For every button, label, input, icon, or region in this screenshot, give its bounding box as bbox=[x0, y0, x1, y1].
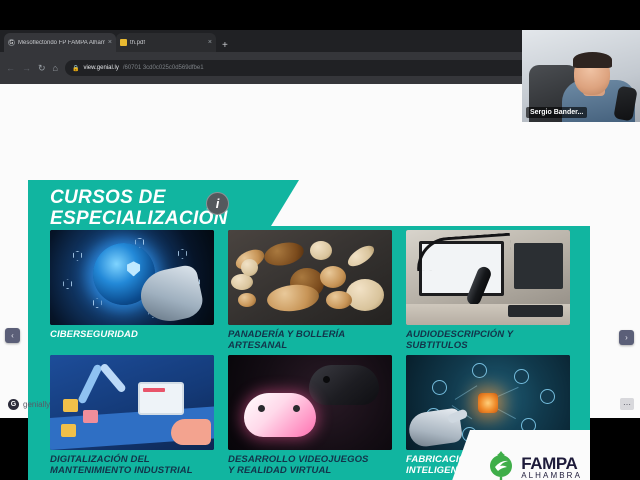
genially-favicon-icon: G bbox=[8, 39, 15, 46]
course-thumbnail[interactable] bbox=[50, 230, 214, 325]
industry-image bbox=[50, 355, 214, 450]
title-line-1: CURSOS DE bbox=[50, 188, 228, 209]
genially-watermark[interactable]: G genially bbox=[8, 399, 50, 410]
tab-title: Mesoflectondo FP FAMPA Alham bbox=[18, 40, 105, 46]
pomegranate-logo-icon bbox=[486, 448, 516, 480]
course-card-ciberseguridad[interactable]: CIBERSEGURIDAD bbox=[50, 230, 214, 351]
next-slide-button[interactable]: › bbox=[619, 330, 634, 345]
new-tab-button[interactable]: + bbox=[216, 40, 234, 52]
back-icon[interactable]: ← bbox=[6, 64, 15, 73]
tab-title: th.pdf bbox=[130, 40, 205, 46]
genially-logo-icon: G bbox=[8, 399, 19, 410]
forward-icon[interactable]: → bbox=[22, 64, 31, 73]
course-label: DESARROLLO VIDEOJUEGOS Y REALIDAD VIRTUA… bbox=[228, 455, 392, 476]
genially-slide: CURSOS DE ESPECIALIZACIÓN i bbox=[28, 180, 590, 480]
lock-icon: 🔒 bbox=[72, 65, 79, 72]
fampa-subtitle: ALHAMBRA bbox=[521, 472, 582, 480]
webcam-overlay[interactable]: Sergio Bander... bbox=[522, 30, 640, 122]
tab-genially[interactable]: G Mesoflectondo FP FAMPA Alham × bbox=[4, 33, 116, 52]
course-label: CIBERSEGURIDAD bbox=[50, 330, 214, 341]
fampa-wordmark: FAMPA ALHAMBRA bbox=[521, 455, 582, 480]
participant-name-label: Sergio Bander... bbox=[526, 107, 587, 118]
prev-slide-button[interactable]: ‹ bbox=[5, 328, 20, 343]
course-card-audiodescripcion[interactable]: AUDIODESCRIPCIÓN Y SUBTITULOS bbox=[406, 230, 570, 351]
course-thumbnail[interactable] bbox=[50, 355, 214, 450]
pdf-favicon-icon bbox=[120, 39, 127, 46]
course-card-videojuegos[interactable]: DESARROLLO VIDEOJUEGOS Y REALIDAD VIRTUA… bbox=[228, 355, 392, 476]
microphone-image bbox=[406, 230, 570, 325]
course-label: AUDIODESCRIPCIÓN Y SUBTITULOS bbox=[406, 330, 570, 351]
course-card-digitalizacion[interactable]: DIGITALIZACIÓN DEL MANTENIMIENTO INDUSTR… bbox=[50, 355, 214, 476]
person-hair bbox=[573, 52, 612, 68]
close-icon[interactable]: × bbox=[208, 39, 212, 46]
title-line-2: ESPECIALIZACIÓN bbox=[50, 209, 228, 230]
page-canvas: CURSOS DE ESPECIALIZACIÓN i bbox=[0, 84, 640, 418]
url-path: /60701 3cd0c025c0d569dfbe1 bbox=[123, 65, 204, 71]
screen-root: G Mesoflectondo FP FAMPA Alham × th.pdf … bbox=[0, 0, 640, 480]
home-icon[interactable]: ⌂ bbox=[53, 64, 58, 73]
bakery-image bbox=[228, 230, 392, 325]
viewer-menu-button[interactable]: ⋯ bbox=[620, 398, 634, 410]
reload-icon[interactable]: ↻ bbox=[38, 64, 46, 73]
cybersecurity-image bbox=[50, 230, 214, 325]
course-label: DIGITALIZACIÓN DEL MANTENIMIENTO INDUSTR… bbox=[50, 455, 214, 476]
course-card-panaderia[interactable]: PANADERÍA Y BOLLERÍA ARTESANAL bbox=[228, 230, 392, 351]
course-label: PANADERÍA Y BOLLERÍA ARTESANAL bbox=[228, 330, 392, 351]
slide-corner-notch bbox=[271, 180, 590, 226]
tab-pdf[interactable]: th.pdf × bbox=[116, 33, 216, 52]
page-title: CURSOS DE ESPECIALIZACIÓN bbox=[50, 188, 228, 229]
course-thumbnail[interactable] bbox=[406, 230, 570, 325]
gamepad-image bbox=[228, 355, 392, 450]
fampa-logo: FAMPA ALHAMBRA bbox=[486, 448, 582, 480]
close-icon[interactable]: × bbox=[108, 39, 112, 46]
info-icon[interactable]: i bbox=[206, 192, 229, 215]
course-thumbnail[interactable] bbox=[228, 355, 392, 450]
genially-label: genially bbox=[23, 400, 50, 409]
url-host: view.genial.ly bbox=[83, 65, 118, 71]
course-thumbnail[interactable] bbox=[228, 230, 392, 325]
fampa-name: FAMPA bbox=[521, 455, 582, 472]
